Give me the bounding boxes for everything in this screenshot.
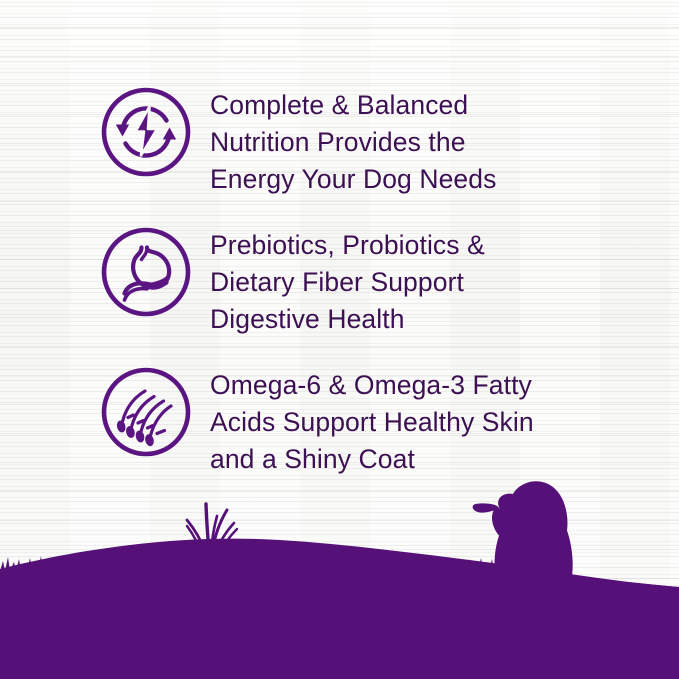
grass-fringe	[0, 554, 679, 679]
bottom-silhouette-scene	[0, 479, 679, 679]
feature-line: Energy Your Dog Needs	[210, 161, 496, 198]
feature-text-energy: Complete & Balanced Nutrition Provides t…	[210, 86, 496, 198]
stomach-digestion-icon	[100, 226, 192, 318]
feature-row-skin-coat: Omega-6 & Omega-3 Fatty Acids Support He…	[100, 366, 534, 478]
feature-line: Digestive Health	[210, 301, 485, 338]
feature-line: Prebiotics, Probiotics &	[210, 227, 485, 264]
feature-text-skin-coat: Omega-6 & Omega-3 Fatty Acids Support He…	[210, 366, 534, 478]
feature-row-digestion: Prebiotics, Probiotics & Dietary Fiber S…	[100, 226, 485, 338]
feature-line: Nutrition Provides the	[210, 124, 496, 161]
feature-line: Dietary Fiber Support	[210, 264, 485, 301]
feature-line: Omega-6 & Omega-3 Fatty	[210, 367, 534, 404]
feature-line: and a Shiny Coat	[210, 441, 534, 478]
feature-line: Complete & Balanced	[210, 87, 496, 124]
feature-text-digestion: Prebiotics, Probiotics & Dietary Fiber S…	[210, 226, 485, 338]
feature-poster: Complete & Balanced Nutrition Provides t…	[0, 0, 679, 679]
energy-cycle-icon	[100, 86, 192, 178]
feature-line: Acids Support Healthy Skin	[210, 404, 534, 441]
feature-row-energy: Complete & Balanced Nutrition Provides t…	[100, 86, 496, 198]
hair-follicle-skin-coat-icon	[100, 366, 192, 458]
